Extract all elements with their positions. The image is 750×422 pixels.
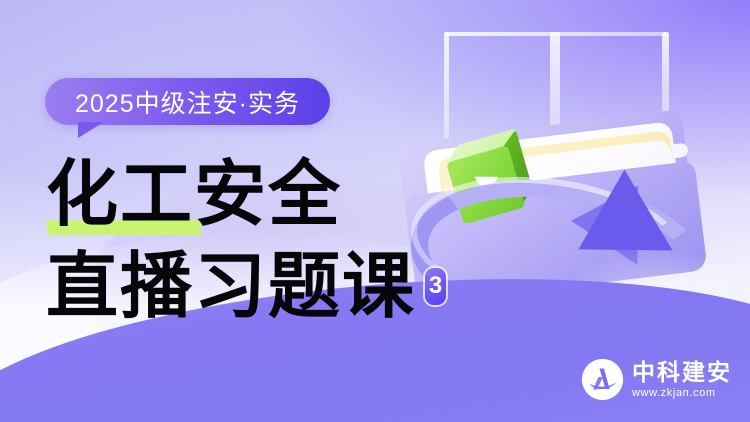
- zkjan-emblem-icon: [582, 359, 623, 400]
- headline-line-1: 化工安全: [46, 156, 446, 234]
- course-promo-banner: 2025中级注安·实务 化工安全 直播习题课 3 中科建安 www.zkjan.…: [0, 0, 750, 422]
- headline-block: 化工安全 直播习题课 3: [46, 156, 446, 326]
- brand-logo-text: 中科建安 www.zkjan.com: [632, 360, 732, 400]
- course-category-badge: 2025中级注安·实务: [45, 78, 330, 125]
- course-category-label: 2025中级注安·实务: [45, 78, 330, 125]
- brand-logo: 中科建安 www.zkjan.com: [582, 359, 732, 400]
- episode-number-badge: 3: [425, 268, 446, 305]
- brand-name: 中科建安: [632, 360, 732, 385]
- headline-line-2: 直播习题课 3: [46, 248, 446, 326]
- badge-tail-icon: [78, 122, 104, 138]
- brand-url: www.zkjan.com: [632, 386, 732, 400]
- headline-line-2-text: 直播习题课: [46, 248, 416, 326]
- headline-line-1-text: 化工安全: [46, 156, 342, 234]
